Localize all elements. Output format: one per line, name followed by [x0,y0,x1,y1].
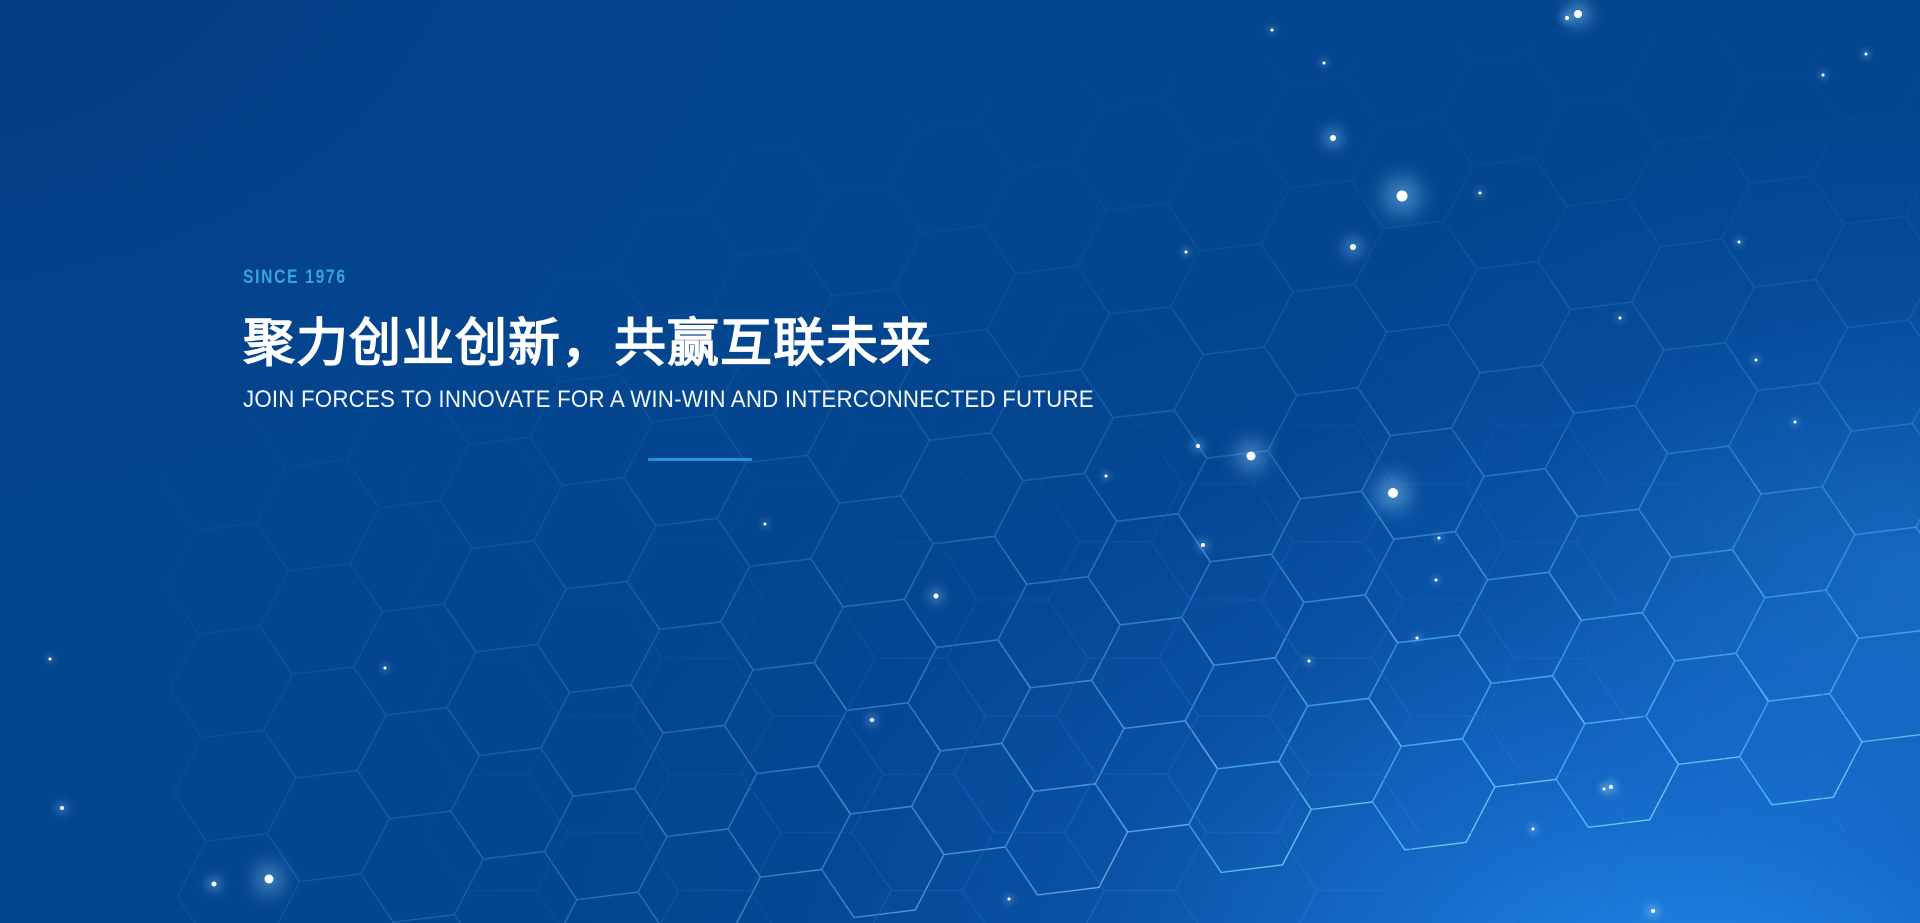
particle-dot [1479,192,1482,195]
particle-dot [1350,244,1356,250]
particle-dot [1308,660,1311,663]
particle-dot [384,667,387,670]
particle-dot [1196,444,1200,448]
particle-dot [1271,29,1274,32]
particle-dot [1416,637,1419,640]
particle-dot [265,875,274,884]
particle-dot [1794,421,1797,424]
particle-dot [60,806,64,810]
eyebrow-since-label: SINCE 1976 [243,268,993,287]
particle-dot [1865,53,1868,56]
particle-dot [1397,191,1408,202]
particle-dot [1532,828,1535,831]
particle-dot [1574,10,1582,18]
particle-dot [1565,16,1569,20]
particle-dot [49,658,52,661]
particle-dot [1603,788,1606,791]
particle-dot [1435,579,1438,582]
particle-dot [870,718,874,722]
hero-copy-block: SINCE 1976 聚力创业创新，共赢互联未来 JOIN FORCES TO … [243,268,1158,469]
particle-dot [764,523,767,526]
particle-dot [1008,898,1011,901]
particle-dot [1330,135,1336,141]
particle-dot [934,594,939,599]
accent-divider [648,458,752,461]
particle-dot [1201,543,1205,547]
page-title: 聚力创业创新，共赢互联未来 [243,316,1158,372]
hero-banner: SINCE 1976 聚力创业创新，共赢互联未来 JOIN FORCES TO … [0,0,1920,923]
particle-dot [1185,251,1188,254]
particle-dot [1755,359,1758,362]
particle-dot [1619,317,1622,320]
particle-dot [1738,241,1741,244]
particle-dot [1105,475,1108,478]
page-subtitle: JOIN FORCES TO INNOVATE FOR A WIN-WIN AN… [243,388,1094,412]
particle-dot [1323,62,1326,65]
particle-dot [1388,488,1398,498]
particle-dot [1822,74,1825,77]
particle-dot [1609,785,1613,789]
particle-dot [1247,452,1256,461]
particle-dot [1438,537,1441,540]
particle-dot [212,882,217,887]
particle-dot [1651,909,1655,913]
